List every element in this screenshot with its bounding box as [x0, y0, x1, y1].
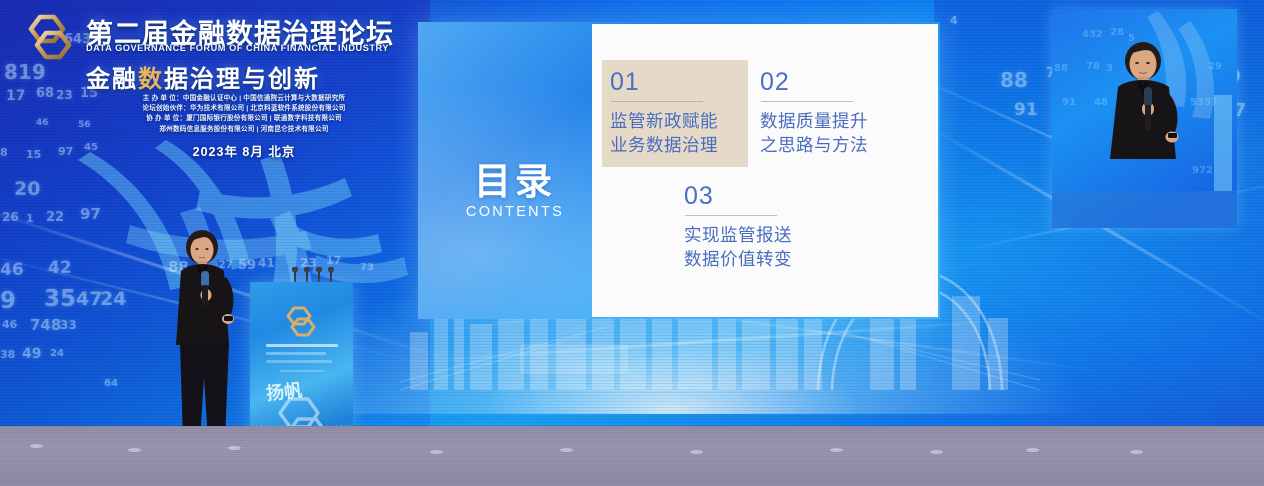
podium-hexagon-logo-icon: [282, 304, 320, 338]
stage-screenshot: 819 6437 17 68 23 15 4 46 56 8 15 97 45 …: [0, 0, 1264, 486]
floor-marker: [560, 448, 573, 452]
slide-content-panel: 01 监管新政赋能 业务数据治理 02 数据质量提升 之思路与方法 03 实现监…: [592, 24, 938, 317]
presentation-slide: 目录 CONTENTS 01 监管新政赋能 业务数据治理 02 数据质量提升 之…: [418, 22, 940, 319]
svg-text:5: 5: [1128, 33, 1135, 44]
floor-marker: [930, 450, 943, 454]
headline-highlight-char: 数: [138, 66, 164, 93]
organizer-line: 主 办 单 位：中国金融认证中心 | 中国信通院云计算与大数据研究所: [86, 94, 402, 104]
contents-title-en: CONTENTS: [440, 204, 590, 220]
agenda-text-line1: 数据质量提升: [760, 109, 903, 133]
speaker-live-feed: 432285 88783 29 91485 5357972: [1052, 9, 1237, 228]
banner-headline: 金融数据治理与创新: [86, 59, 320, 94]
svg-text:972: 972: [1192, 165, 1213, 176]
organizer-line: 协 办 单 位：厦门国际银行股份有限公司 | 联通数字科技有限公司: [86, 114, 402, 124]
svg-text:5357: 5357: [1190, 97, 1218, 108]
agenda-text-line2: 业务数据治理: [610, 133, 742, 157]
agenda-text-line1: 监管新政赋能: [610, 109, 742, 133]
svg-text:48: 48: [1094, 97, 1108, 108]
event-banner: 第二届金融数据治理论坛 DATA GOVERNANCE FORUM OF CHI…: [0, 0, 420, 175]
agenda-text-line2: 之思路与方法: [760, 133, 903, 157]
podium-title-line: [266, 360, 332, 363]
agenda-text-line2: 数据价值转变: [684, 247, 827, 271]
organizer-credits: 主 办 单 位：中国金融认证中心 | 中国信通院云计算与大数据研究所 论坛创始伙…: [86, 94, 402, 135]
agenda-text-line1: 实现监管报送: [684, 223, 827, 247]
floor-marker: [1026, 448, 1039, 452]
slide-contents-heading: 目录 CONTENTS: [440, 160, 590, 220]
agenda-number: 01: [610, 68, 742, 96]
stage-speaker: [150, 225, 260, 457]
banner-date-location: 2023年 8月 北京: [86, 141, 402, 160]
svg-text:78: 78: [1086, 61, 1100, 72]
floor-marker: [228, 446, 241, 450]
agenda-divider: [611, 101, 703, 102]
podium-title-line: [280, 370, 324, 372]
agenda-item-02: 02 数据质量提升 之思路与方法: [760, 68, 903, 157]
video-feed-content: 432285 88783 29 91485 5357972: [1052, 9, 1237, 228]
svg-text:91: 91: [1062, 97, 1076, 108]
podium-title-line: [266, 352, 326, 355]
svg-text:432: 432: [1082, 29, 1103, 40]
banner-subtitle-english: DATA GOVERNANCE FORUM OF CHINA FINANCIAL…: [86, 43, 389, 53]
organizer-line: 论坛创始伙伴：华为技术有限公司 | 北京科蓝软件系统股份有限公司: [86, 104, 402, 114]
floor-marker: [430, 450, 443, 454]
stage-floor: [0, 426, 1264, 486]
svg-text:3: 3: [1106, 63, 1113, 74]
svg-text:28: 28: [1110, 27, 1124, 38]
svg-text:88: 88: [1054, 63, 1068, 74]
agenda-item-03: 03 实现监管报送 数据价值转变: [684, 182, 827, 271]
agenda-divider: [761, 101, 853, 102]
forum-hexagon-logo-icon: [22, 9, 78, 65]
agenda-number: 02: [760, 68, 903, 96]
floor-marker: [30, 444, 43, 448]
agenda-number: 03: [684, 182, 827, 210]
floor-marker: [690, 450, 703, 454]
floor-marker: [128, 448, 141, 452]
floor-marker: [1130, 450, 1143, 454]
agenda-divider: [685, 215, 777, 216]
agenda-item-01: 01 监管新政赋能 业务数据治理: [602, 60, 748, 167]
headline-part-1: 金融: [86, 66, 138, 93]
organizer-line: 郑州数码信息服务股份有限公司 | 河南昆仑技术有限公司: [86, 125, 402, 135]
floor-marker: [830, 448, 843, 452]
podium-title-line: [266, 344, 338, 347]
contents-title-cn: 目录: [440, 160, 590, 203]
svg-text:29: 29: [1208, 61, 1222, 72]
headline-part-2: 据治理与创新: [164, 66, 320, 93]
